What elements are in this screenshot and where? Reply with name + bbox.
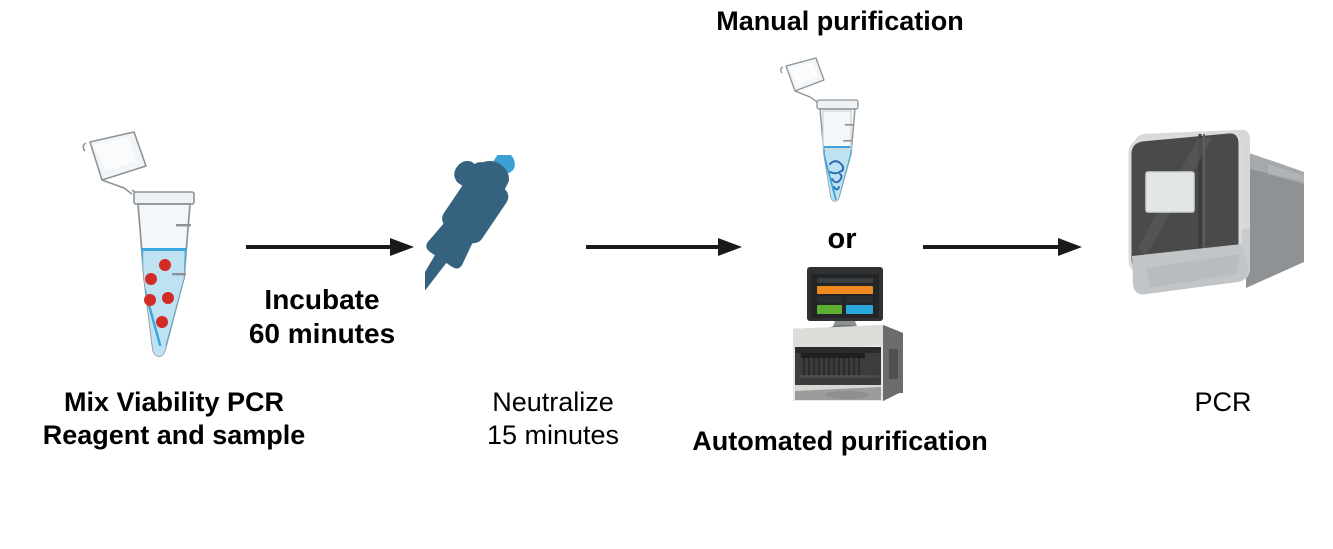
tube-body-icon <box>132 192 198 363</box>
tube-lid-open-icon <box>781 58 824 102</box>
arrow-3 <box>921 236 1084 258</box>
step-pcr-caption: PCR <box>1130 386 1316 419</box>
step-automated-purification-caption: Automated purification <box>670 425 1010 458</box>
instrument-chassis-icon <box>793 325 903 401</box>
tube-lid-open-icon <box>83 132 146 198</box>
tube-body-icon <box>816 100 862 208</box>
arrow-2 <box>584 236 744 258</box>
step-neutralize-icon <box>425 155 595 335</box>
arrow-1 <box>244 236 416 258</box>
alternative-separator-label: or <box>790 222 894 257</box>
step-mix-caption: Mix Viability PCR Reagent and sample <box>14 386 334 452</box>
step-automated-purification-icon <box>765 263 925 413</box>
step-mix-icon <box>72 128 200 360</box>
step-manual-purification-icon <box>778 54 874 204</box>
instrument-touchscreen-icon <box>807 267 883 333</box>
step-pcr-icon <box>1128 128 1318 308</box>
workflow-diagram: Incubate 60 minutes Mix Viability PCR Re… <box>0 0 1333 549</box>
arrow-1-label: Incubate 60 minutes <box>218 283 426 351</box>
step-manual-purification-caption: Manual purification <box>675 5 1005 38</box>
step-neutralize-caption: Neutralize 15 minutes <box>408 386 698 452</box>
